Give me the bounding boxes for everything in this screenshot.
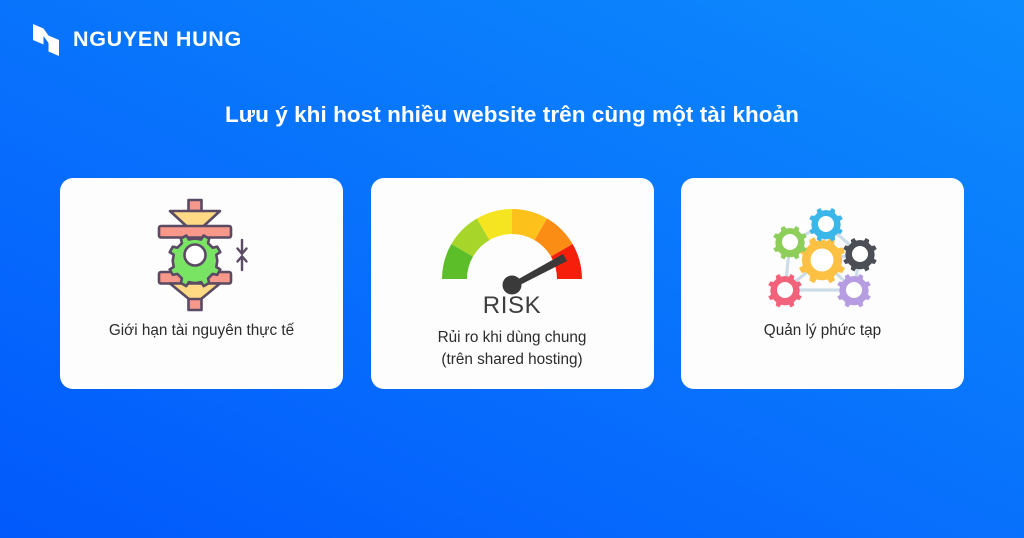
card-label-line1: Giới hạn tài nguyên thực tế <box>109 322 294 339</box>
page-title: Lưu ý khi host nhiều website trên cùng m… <box>0 101 1024 129</box>
card-label-line1: Rủi ro khi dùng chung <box>438 329 587 346</box>
feature-cards-row: Giới hạn tài nguyên thực tế <box>60 178 964 389</box>
card-resource-limit[interactable]: Giới hạn tài nguyên thực tế <box>60 178 343 389</box>
gauge-risk-text: RISK <box>483 294 541 318</box>
card-label: Quản lý phức tạp <box>681 320 964 342</box>
risk-gauge-icon <box>436 196 588 296</box>
card-label-line2: (trên shared hosting) <box>381 349 644 371</box>
brand-name: NGUYEN HUNG <box>73 29 242 51</box>
gear-network-icon <box>760 196 886 314</box>
card-label: Giới hạn tài nguyên thực tế <box>60 320 343 342</box>
brand-header: NGUYEN HUNG <box>30 21 242 59</box>
gear-left <box>773 226 807 260</box>
card-shared-hosting-risk[interactable]: RISK Rủi ro khi dùng chung (trên shared … <box>371 178 654 389</box>
compression-gear-icon <box>146 196 258 314</box>
card-label: Rủi ro khi dùng chung (trên shared hosti… <box>371 327 654 370</box>
card-complex-management[interactable]: Quản lý phức tạp <box>681 178 964 389</box>
nguyen-hung-monogram-icon[interactable] <box>30 21 62 59</box>
card-label-line1: Quản lý phức tạp <box>764 322 881 339</box>
